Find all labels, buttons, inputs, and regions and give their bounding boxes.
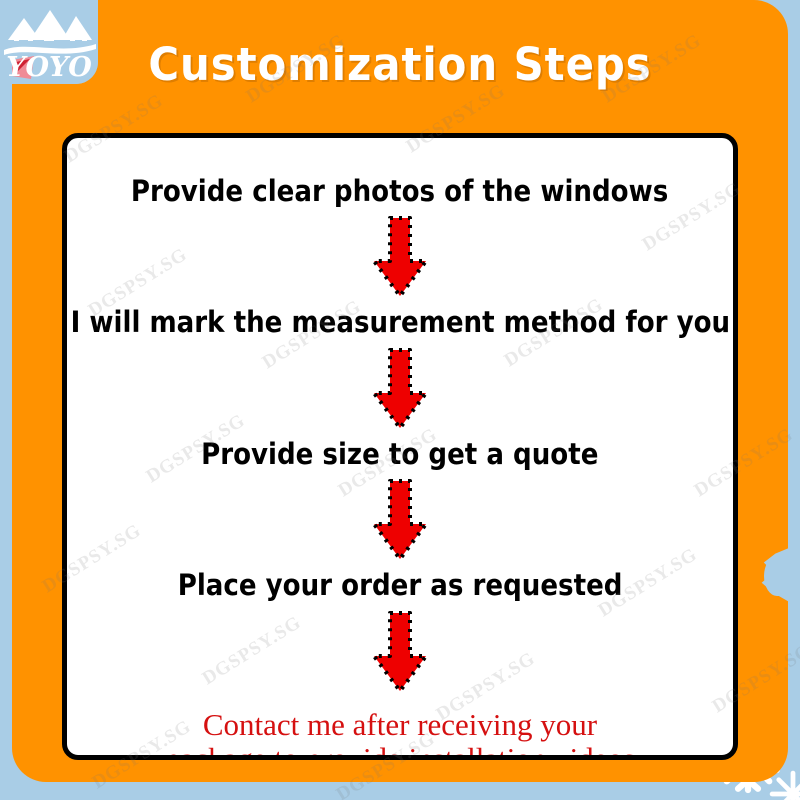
steps-card: Provide clear photos of the windows I wi… [62, 133, 738, 760]
page-title: Customization Steps [28, 38, 772, 91]
steps-list: Provide clear photos of the windows I wi… [67, 138, 733, 755]
final-note: Contact me after receiving your package … [165, 708, 635, 760]
step-2-label: I will mark the measurement method for y… [70, 307, 729, 337]
down-arrow-icon [369, 215, 431, 299]
brand-logo-text: YOYO [0, 52, 98, 83]
step-4-label: Place your order as requested [178, 570, 623, 600]
down-arrow-icon [369, 610, 431, 694]
final-note-line-2: package to provide installation videos [165, 742, 635, 760]
puzzle-notch-inner [764, 556, 788, 596]
brand-logo[interactable]: YOYO [0, 0, 98, 84]
customization-steps-infographic: dgspsy YOYO Customization Ste [0, 0, 800, 800]
step-3-label: Provide size to get a quote [201, 439, 598, 469]
final-note-line-1: Contact me after receiving your [165, 708, 635, 743]
down-arrow-icon [369, 478, 431, 562]
step-1-label: Provide clear photos of the windows [131, 176, 668, 206]
down-arrow-icon [369, 347, 431, 431]
